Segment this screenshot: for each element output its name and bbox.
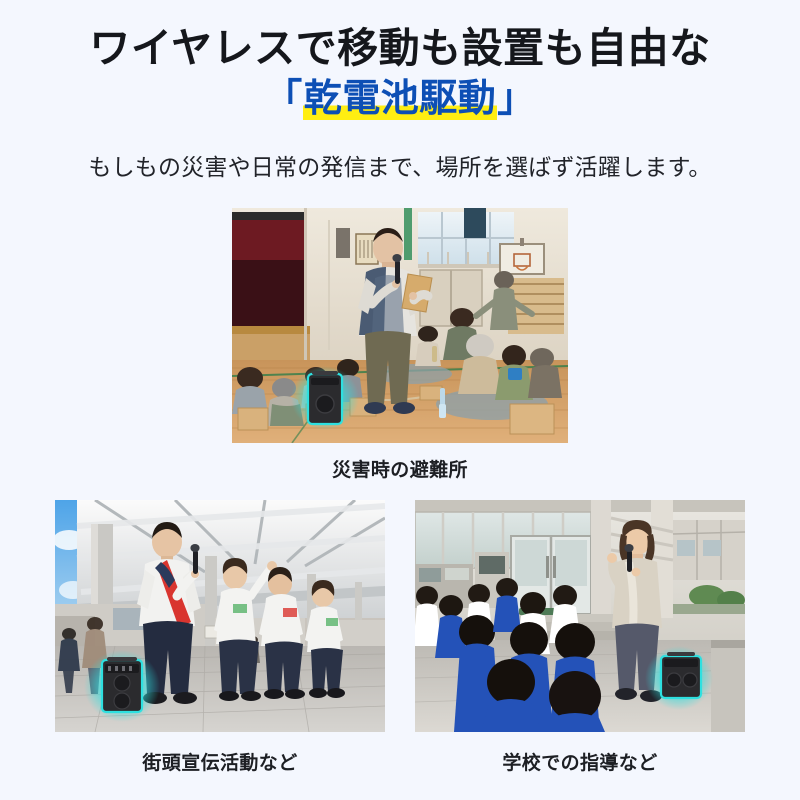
headline-line-1: ワイヤレスで移動も設置も自由な	[0, 26, 800, 72]
school-illustration	[415, 500, 745, 732]
photo-shelter	[232, 208, 568, 443]
caption-school: 学校での指導など	[415, 748, 745, 775]
photo-street	[55, 500, 385, 732]
promo-page: ワイヤレスで移動も設置も自由な 「乾電池駆動」 もしもの災害や日常の発信まで、場…	[0, 0, 800, 800]
headline-line-2: 「乾電池駆動」	[0, 78, 800, 121]
open-bracket: 「	[264, 78, 303, 120]
close-bracket: 」	[497, 78, 536, 120]
caption-shelter: 災害時の避難所	[232, 455, 568, 482]
street-illustration	[55, 500, 385, 732]
headline-block: ワイヤレスで移動も設置も自由な 「乾電池駆動」	[0, 26, 800, 120]
photo-school	[415, 500, 745, 732]
shelter-illustration	[232, 208, 568, 443]
caption-street: 街頭宣伝活動など	[55, 748, 385, 775]
subtitle-text: もしもの災害や日常の発信まで、場所を選ばず活躍します。	[0, 148, 800, 182]
highlighted-keyword: 乾電池駆動	[303, 78, 498, 120]
